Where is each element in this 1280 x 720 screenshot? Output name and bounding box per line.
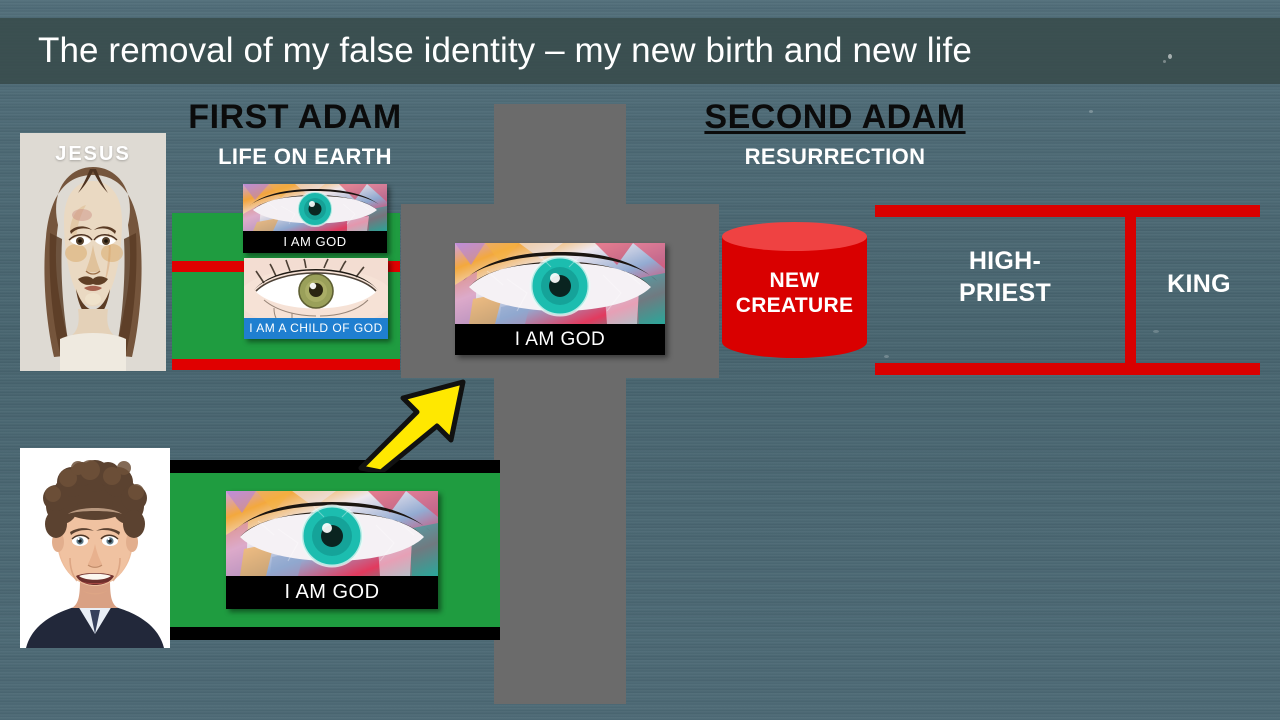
title-band: The removal of my false identity – my ne… [0, 18, 1280, 84]
label-high-priest: HIGH- PRIEST [887, 245, 1123, 309]
mosaic-eye-icon [226, 491, 438, 576]
eye-block-child-of-god: I AM A CHILD OF GOD [244, 258, 388, 339]
eye-caption: I AM A CHILD OF GOD [244, 318, 388, 339]
label-high-priest-line2: PRIEST [887, 277, 1123, 309]
mosaic-eye-icon [455, 243, 665, 324]
realistic-eye-icon [244, 258, 388, 318]
eye-caption: I AM GOD [243, 231, 387, 253]
dust-speck [1089, 110, 1093, 113]
man-headshot-illustration [20, 448, 170, 648]
eye-caption: I AM GOD [226, 576, 438, 609]
bracket-top-bar [875, 205, 1260, 217]
cylinder-label-line1: NEW [722, 268, 867, 293]
eye-caption: I AM GOD [455, 324, 665, 355]
label-king: KING [1138, 268, 1260, 300]
jesus-watercolor-illustration [20, 133, 166, 371]
bracket-bottom-bar [875, 363, 1260, 375]
heading-life-on-earth: LIFE ON EARTH [130, 144, 480, 170]
eye-block-i-am-god-top: I AM GOD [243, 184, 387, 253]
jesus-portrait-card: JESUS [20, 133, 166, 371]
heading-first-adam: FIRST ADAM [130, 98, 460, 137]
heading-resurrection: RESURRECTION [670, 144, 1000, 170]
author-portrait-card [20, 448, 170, 648]
heading-second-adam: SECOND ADAM [670, 98, 1000, 137]
new-creature-cylinder: NEW CREATURE [722, 222, 867, 367]
page-title: The removal of my false identity – my ne… [38, 31, 972, 71]
cylinder-label: NEW CREATURE [722, 268, 867, 318]
black-bar-bottom [170, 627, 500, 640]
label-high-priest-line1: HIGH- [887, 245, 1123, 277]
cylinder-top-ellipse [722, 222, 867, 251]
transition-arrow-icon [355, 372, 480, 472]
office-bracket: HIGH- PRIEST KING [875, 205, 1260, 375]
cross-vertical-beam [494, 104, 626, 704]
mosaic-eye-icon [243, 184, 387, 231]
eye-block-i-am-god-bottom: I AM GOD [226, 491, 438, 609]
bracket-divider [1125, 205, 1136, 375]
red-divider-2 [172, 359, 400, 370]
eye-block-i-am-god-cross: I AM GOD [455, 243, 665, 355]
slide-canvas: The removal of my false identity – my ne… [0, 0, 1280, 720]
jesus-label: JESUS [20, 143, 166, 166]
cylinder-label-line2: CREATURE [722, 293, 867, 318]
